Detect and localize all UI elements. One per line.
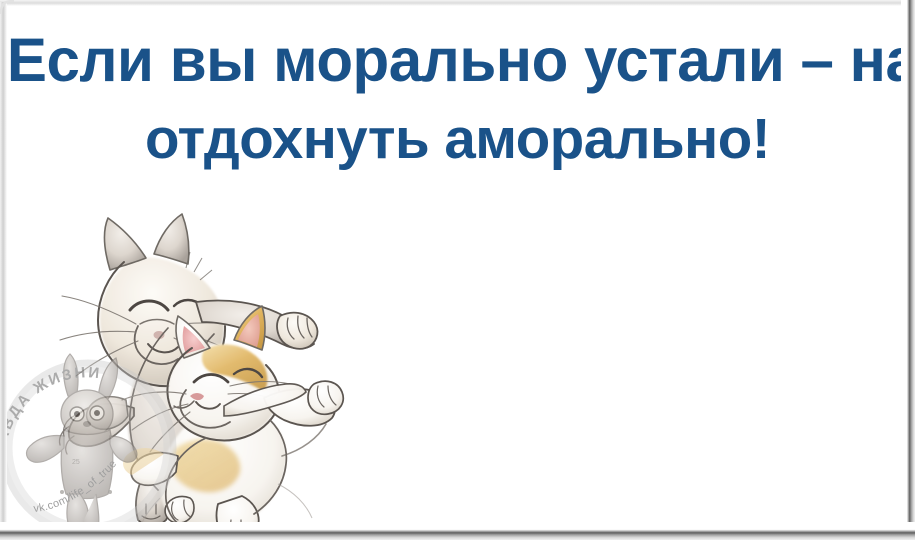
illustration-two-dancing-cats bbox=[18, 198, 358, 533]
meme-card: Если вы морально устали – надо отдохнуть… bbox=[0, 0, 915, 540]
caption-block: Если вы морально устали – надо отдохнуть… bbox=[0, 0, 915, 168]
caption-line-1: Если вы морально устали – надо bbox=[7, 0, 908, 91]
caption-line-2: отдохнуть аморально! bbox=[5, 91, 911, 168]
